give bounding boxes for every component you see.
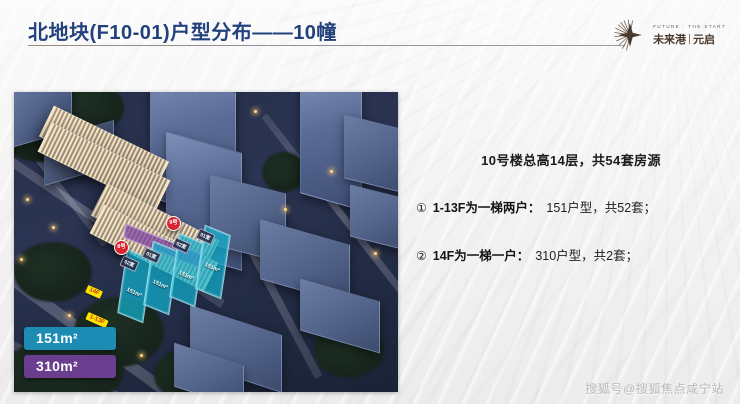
building-pin-9: 9号 [166, 216, 181, 231]
brand-name-primary: 未来港 [653, 31, 686, 47]
title-divider [28, 45, 625, 46]
brand-english-name: FUTURE · THE START [653, 24, 726, 29]
street-lamp [284, 208, 287, 211]
area-legend: 151m² 310m² [24, 327, 116, 378]
info-row-marker: ① [416, 202, 427, 214]
street-lamp [68, 314, 71, 317]
street-lamp [330, 170, 333, 173]
info-row-strong: 14F为一梯一户： [433, 245, 530, 264]
street-lamp [52, 226, 55, 229]
info-row: ① 1-13F为一梯两户： 151户型，共52套； [416, 197, 726, 216]
street-lamp [254, 110, 257, 113]
street-lamp [20, 258, 23, 261]
brand-name-secondary: 元启 [693, 31, 715, 47]
page-title: 北地块(F10-01)户型分布——10幢 [28, 16, 337, 45]
slide-header: 北地块(F10-01)户型分布——10幢 [0, 0, 740, 62]
street-lamp [374, 252, 377, 255]
watermark-text: 搜狐号@搜狐焦点咸宁站 [585, 380, 724, 397]
info-heading: 10号楼总高14层，共54套房源 [416, 150, 726, 169]
building-pin-8: 8号 [114, 240, 129, 255]
unit-info-panel: 10号楼总高14层，共54套房源 ① 1-13F为一梯两户： 151户型，共52… [416, 150, 726, 293]
slide-root: 北地块(F10-01)户型分布——10幢 [0, 0, 740, 404]
legend-badge-151: 151m² [24, 327, 116, 350]
info-row-rest: 310户型，共2套； [535, 245, 638, 264]
brand-separator [689, 34, 690, 44]
info-row-marker: ② [416, 250, 427, 262]
info-row: ② 14F为一梯一户： 310户型，共2套； [416, 245, 726, 264]
street-lamp [140, 354, 143, 357]
info-row-rest: 151户型，共52套； [546, 197, 656, 216]
legend-badge-310: 310m² [24, 355, 116, 378]
vegetation [14, 242, 92, 302]
street-lamp [26, 198, 29, 201]
starburst-icon [613, 19, 647, 51]
info-row-strong: 1-13F为一梯两户： [433, 197, 541, 216]
brand-logo: FUTURE · THE START 未来港 元启 [613, 19, 726, 51]
aerial-rendering-photo: 151m² 151m² 151m² 151m² 310m² 02室 01室 02… [14, 92, 398, 392]
